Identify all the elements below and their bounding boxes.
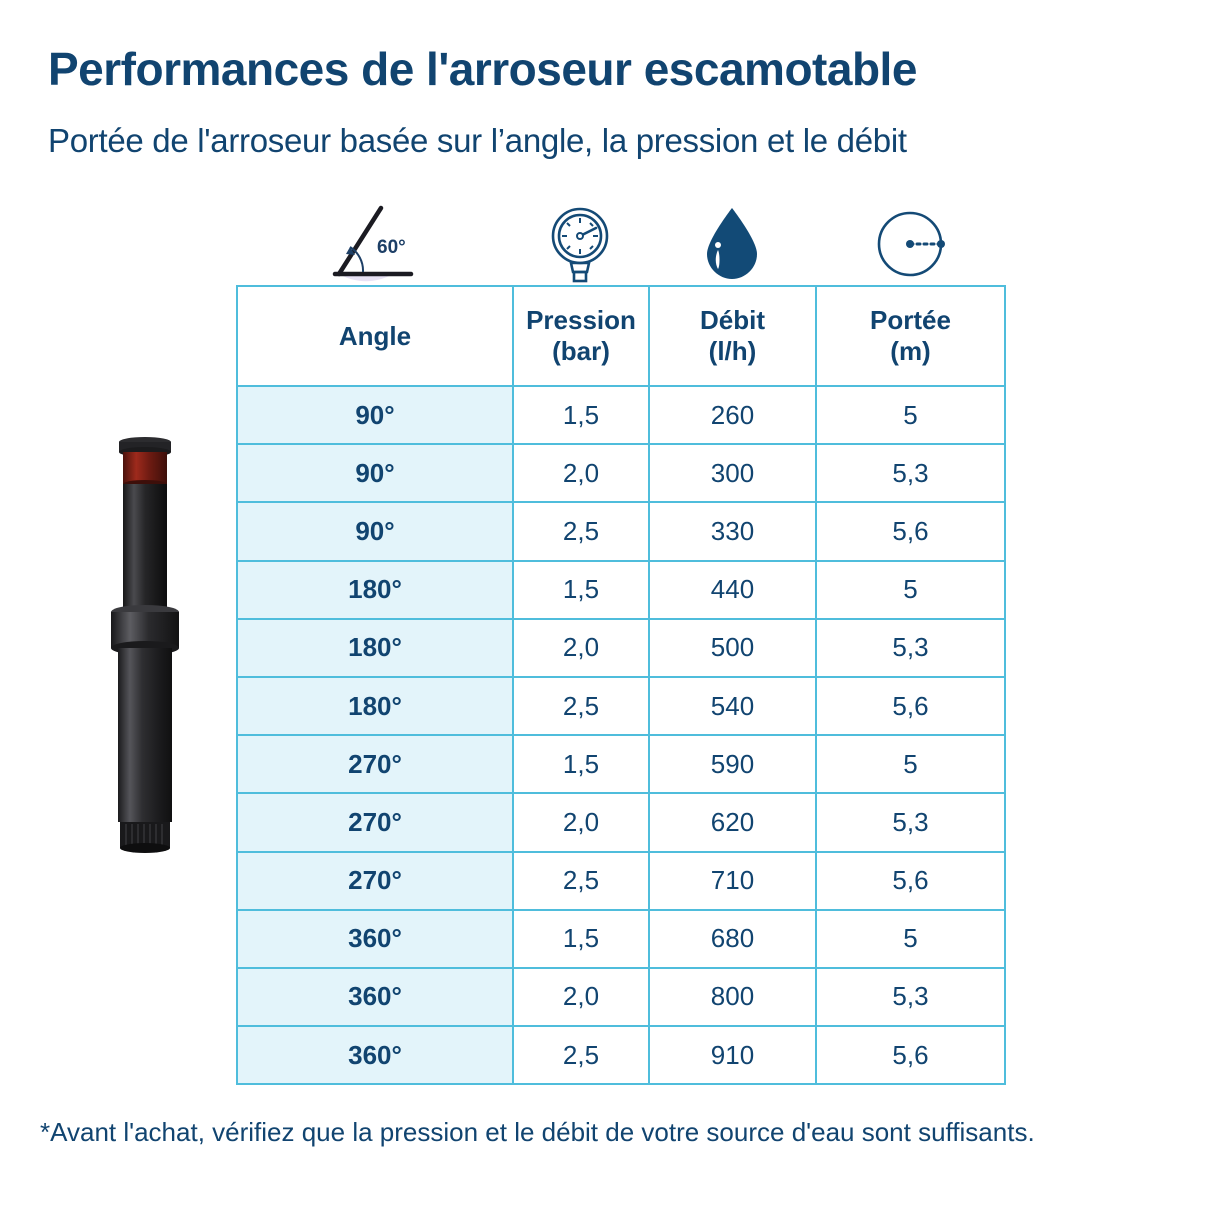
cell-debit: 540 [649, 677, 816, 735]
cell-portee: 5,6 [816, 502, 1005, 560]
table-row: 90° 2,0 300 5,3 [237, 444, 1005, 502]
table-row: 180° 2,0 500 5,3 [237, 619, 1005, 677]
cell-debit: 710 [649, 852, 816, 910]
range-circle-icon [870, 200, 950, 284]
water-drop-icon-cell [648, 198, 815, 284]
table-row: 180° 2,5 540 5,6 [237, 677, 1005, 735]
cell-portee: 5,6 [816, 852, 1005, 910]
footnote-text: *Avant l'achat, vérifiez que la pression… [40, 1117, 1190, 1148]
angle-icon-label: 60° [377, 237, 406, 258]
cell-pression: 1,5 [513, 386, 649, 444]
header-line2: (bar) [552, 336, 610, 366]
cell-portee: 5 [816, 561, 1005, 619]
cell-debit: 800 [649, 968, 816, 1026]
cell-angle: 90° [237, 444, 513, 502]
cell-portee: 5,3 [816, 444, 1005, 502]
header-line2: (l/h) [709, 336, 757, 366]
cell-angle: 360° [237, 968, 513, 1026]
cell-portee: 5,6 [816, 677, 1005, 735]
cell-portee: 5,3 [816, 619, 1005, 677]
cell-angle: 270° [237, 852, 513, 910]
pressure-gauge-icon-cell [512, 198, 648, 284]
header-line1: Angle [339, 321, 411, 351]
sprinkler-product-image [70, 430, 220, 860]
cell-portee: 5,6 [816, 1026, 1005, 1084]
cell-angle: 180° [237, 677, 513, 735]
cell-pression: 2,5 [513, 677, 649, 735]
cell-portee: 5 [816, 386, 1005, 444]
cell-pression: 1,5 [513, 561, 649, 619]
cell-debit: 500 [649, 619, 816, 677]
cell-pression: 2,5 [513, 1026, 649, 1084]
cell-pression: 2,5 [513, 852, 649, 910]
water-drop-icon [699, 200, 765, 284]
cell-debit: 590 [649, 735, 816, 793]
performance-table: Angle Pression (bar) Débit (l/h) Portée … [236, 285, 1006, 1085]
cell-pression: 2,0 [513, 968, 649, 1026]
cell-debit: 300 [649, 444, 816, 502]
cell-pression: 1,5 [513, 735, 649, 793]
table-row: 90° 1,5 260 5 [237, 386, 1005, 444]
cell-pression: 2,0 [513, 793, 649, 851]
column-header-pression: Pression (bar) [513, 286, 649, 386]
table-body: 90° 1,5 260 5 90° 2,0 300 5,3 90° 2,5 33… [237, 386, 1005, 1084]
table-row: 180° 1,5 440 5 [237, 561, 1005, 619]
column-header-angle: Angle [237, 286, 513, 386]
cell-pression: 1,5 [513, 910, 649, 968]
cell-portee: 5 [816, 910, 1005, 968]
header-line1: Pression [526, 305, 636, 335]
cell-angle: 270° [237, 735, 513, 793]
cell-angle: 180° [237, 561, 513, 619]
cell-angle: 90° [237, 386, 513, 444]
table-row: 270° 1,5 590 5 [237, 735, 1005, 793]
table-row: 360° 2,0 800 5,3 [237, 968, 1005, 1026]
cell-angle: 360° [237, 910, 513, 968]
cell-angle: 360° [237, 1026, 513, 1084]
cell-pression: 2,5 [513, 502, 649, 560]
cell-pression: 2,0 [513, 444, 649, 502]
infographic-page: Performances de l'arroseur escamotable P… [0, 0, 1206, 1206]
cell-angle: 270° [237, 793, 513, 851]
table-row: 360° 1,5 680 5 [237, 910, 1005, 968]
cell-portee: 5 [816, 735, 1005, 793]
column-header-debit: Débit (l/h) [649, 286, 816, 386]
page-subtitle: Portée de l'arroseur basée sur l’angle, … [48, 122, 1178, 160]
range-circle-icon-cell [815, 198, 1004, 284]
cell-pression: 2,0 [513, 619, 649, 677]
table-row: 270° 2,0 620 5,3 [237, 793, 1005, 851]
cell-debit: 260 [649, 386, 816, 444]
table-row: 360° 2,5 910 5,6 [237, 1026, 1005, 1084]
cell-debit: 910 [649, 1026, 816, 1084]
cell-portee: 5,3 [816, 968, 1005, 1026]
header-line1: Débit [700, 305, 765, 335]
angle-icon-cell: 60° [236, 198, 512, 284]
column-icon-row: 60° [236, 198, 1004, 284]
table-row: 270° 2,5 710 5,6 [237, 852, 1005, 910]
table-row: 90° 2,5 330 5,6 [237, 502, 1005, 560]
cell-debit: 440 [649, 561, 816, 619]
cell-portee: 5,3 [816, 793, 1005, 851]
header-line2: (m) [890, 336, 930, 366]
cell-angle: 90° [237, 502, 513, 560]
cell-angle: 180° [237, 619, 513, 677]
cell-debit: 330 [649, 502, 816, 560]
header-line1: Portée [870, 305, 951, 335]
cell-debit: 620 [649, 793, 816, 851]
cell-debit: 680 [649, 910, 816, 968]
column-header-portee: Portée (m) [816, 286, 1005, 386]
page-title: Performances de l'arroseur escamotable [48, 42, 1168, 96]
table-header-row: Angle Pression (bar) Débit (l/h) Portée … [237, 286, 1005, 386]
angle-icon: 60° [319, 200, 429, 284]
pressure-gauge-icon [541, 200, 619, 284]
